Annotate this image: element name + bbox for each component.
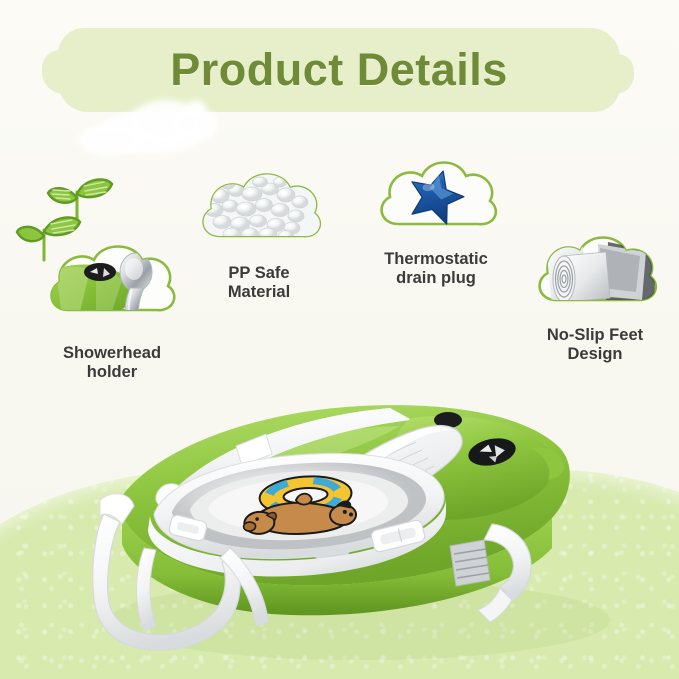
pp-pellets-icon [192,164,326,264]
feature-badge-thermostatic-drain-plug: Thermostatic drain plug [370,152,502,252]
title-banner: Product Details [58,28,620,112]
infographic-canvas: Product Details [0,0,679,679]
page-title: Product Details [58,44,620,96]
feature-caption-pp-safe-material: PP Safe Material [164,264,354,303]
feature-badge-pp-safe-material: PP Safe Material [192,164,326,264]
feature-caption-thermostatic-drain-plug: Thermostatic drain plug [341,250,531,289]
product-image-foldable-baby-bathtub [60,300,640,670]
blue-star-plug-icon [370,152,502,252]
